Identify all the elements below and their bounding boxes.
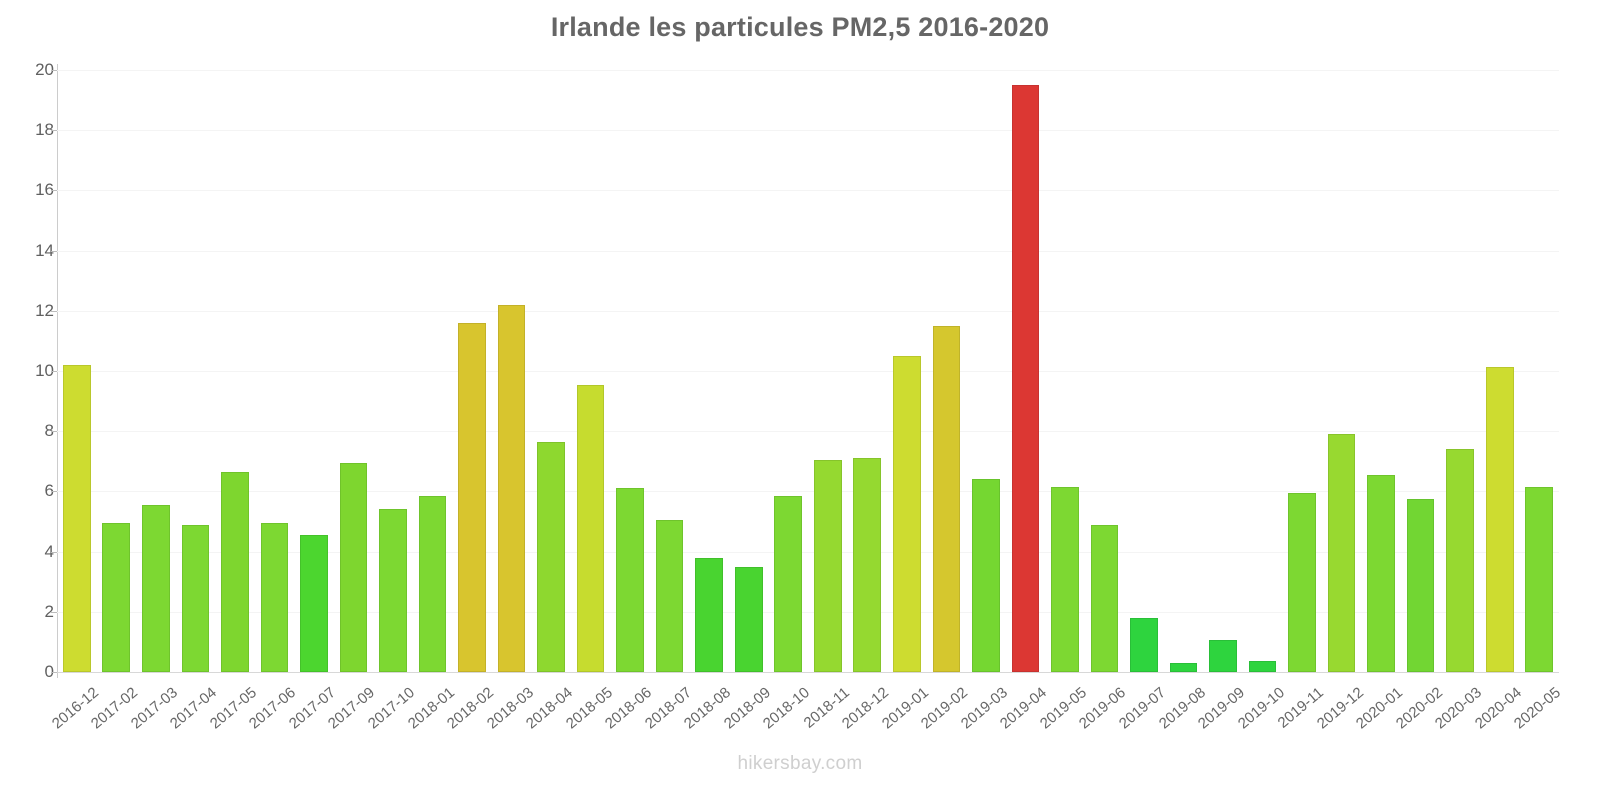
bar[interactable] — [458, 323, 486, 672]
bar[interactable] — [814, 460, 842, 672]
bar[interactable] — [182, 525, 210, 672]
y-axis-tick-label: 16 — [10, 180, 54, 200]
bar[interactable] — [972, 479, 1000, 672]
bar[interactable] — [1012, 85, 1040, 672]
bar[interactable] — [537, 442, 565, 672]
y-axis-tick-label: 20 — [10, 60, 54, 80]
bar[interactable] — [1249, 661, 1277, 672]
bar[interactable] — [1209, 640, 1237, 672]
bar[interactable] — [1051, 487, 1079, 672]
bar[interactable] — [1328, 434, 1356, 672]
y-axis-tick-label: 12 — [10, 301, 54, 321]
bar[interactable] — [498, 305, 526, 672]
bar[interactable] — [853, 458, 881, 672]
bar[interactable] — [1407, 499, 1435, 672]
bar[interactable] — [1367, 475, 1395, 672]
bar[interactable] — [102, 523, 130, 672]
bar[interactable] — [656, 520, 684, 672]
bar[interactable] — [221, 472, 249, 672]
bar[interactable] — [419, 496, 447, 672]
bar[interactable] — [893, 356, 921, 672]
bar[interactable] — [1525, 487, 1553, 672]
bar[interactable] — [63, 365, 91, 672]
bar[interactable] — [933, 326, 961, 672]
bar[interactable] — [1446, 449, 1474, 672]
y-axis-tick-label: 4 — [10, 542, 54, 562]
bar[interactable] — [1091, 525, 1119, 672]
bar[interactable] — [1486, 367, 1514, 673]
bar[interactable] — [300, 535, 328, 672]
y-axis-tick-label: 14 — [10, 241, 54, 261]
bar[interactable] — [340, 463, 368, 672]
footer-credit: hikersbay.com — [0, 753, 1600, 775]
bar[interactable] — [774, 496, 802, 672]
chart-title: Irlande les particules PM2,5 2016-2020 — [0, 12, 1600, 43]
bar[interactable] — [695, 558, 723, 672]
bar[interactable] — [577, 385, 605, 672]
y-axis-tick-label: 8 — [10, 421, 54, 441]
plot-area — [57, 70, 1559, 672]
y-axis-tick-label: 10 — [10, 361, 54, 381]
chart-container: Irlande les particules PM2,5 2016-2020 0… — [0, 0, 1600, 800]
bar[interactable] — [1170, 663, 1198, 672]
y-axis-tick-label: 0 — [10, 662, 54, 682]
bar[interactable] — [261, 523, 289, 672]
y-axis-tick-label: 18 — [10, 120, 54, 140]
bar[interactable] — [735, 567, 763, 672]
bar[interactable] — [142, 505, 170, 672]
bar[interactable] — [616, 488, 644, 672]
bar[interactable] — [1288, 493, 1316, 672]
bar[interactable] — [1130, 618, 1158, 672]
bar[interactable] — [379, 509, 407, 672]
y-axis-tick-label: 6 — [10, 481, 54, 501]
bars-layer — [57, 70, 1559, 672]
y-axis-tick-label: 2 — [10, 602, 54, 622]
